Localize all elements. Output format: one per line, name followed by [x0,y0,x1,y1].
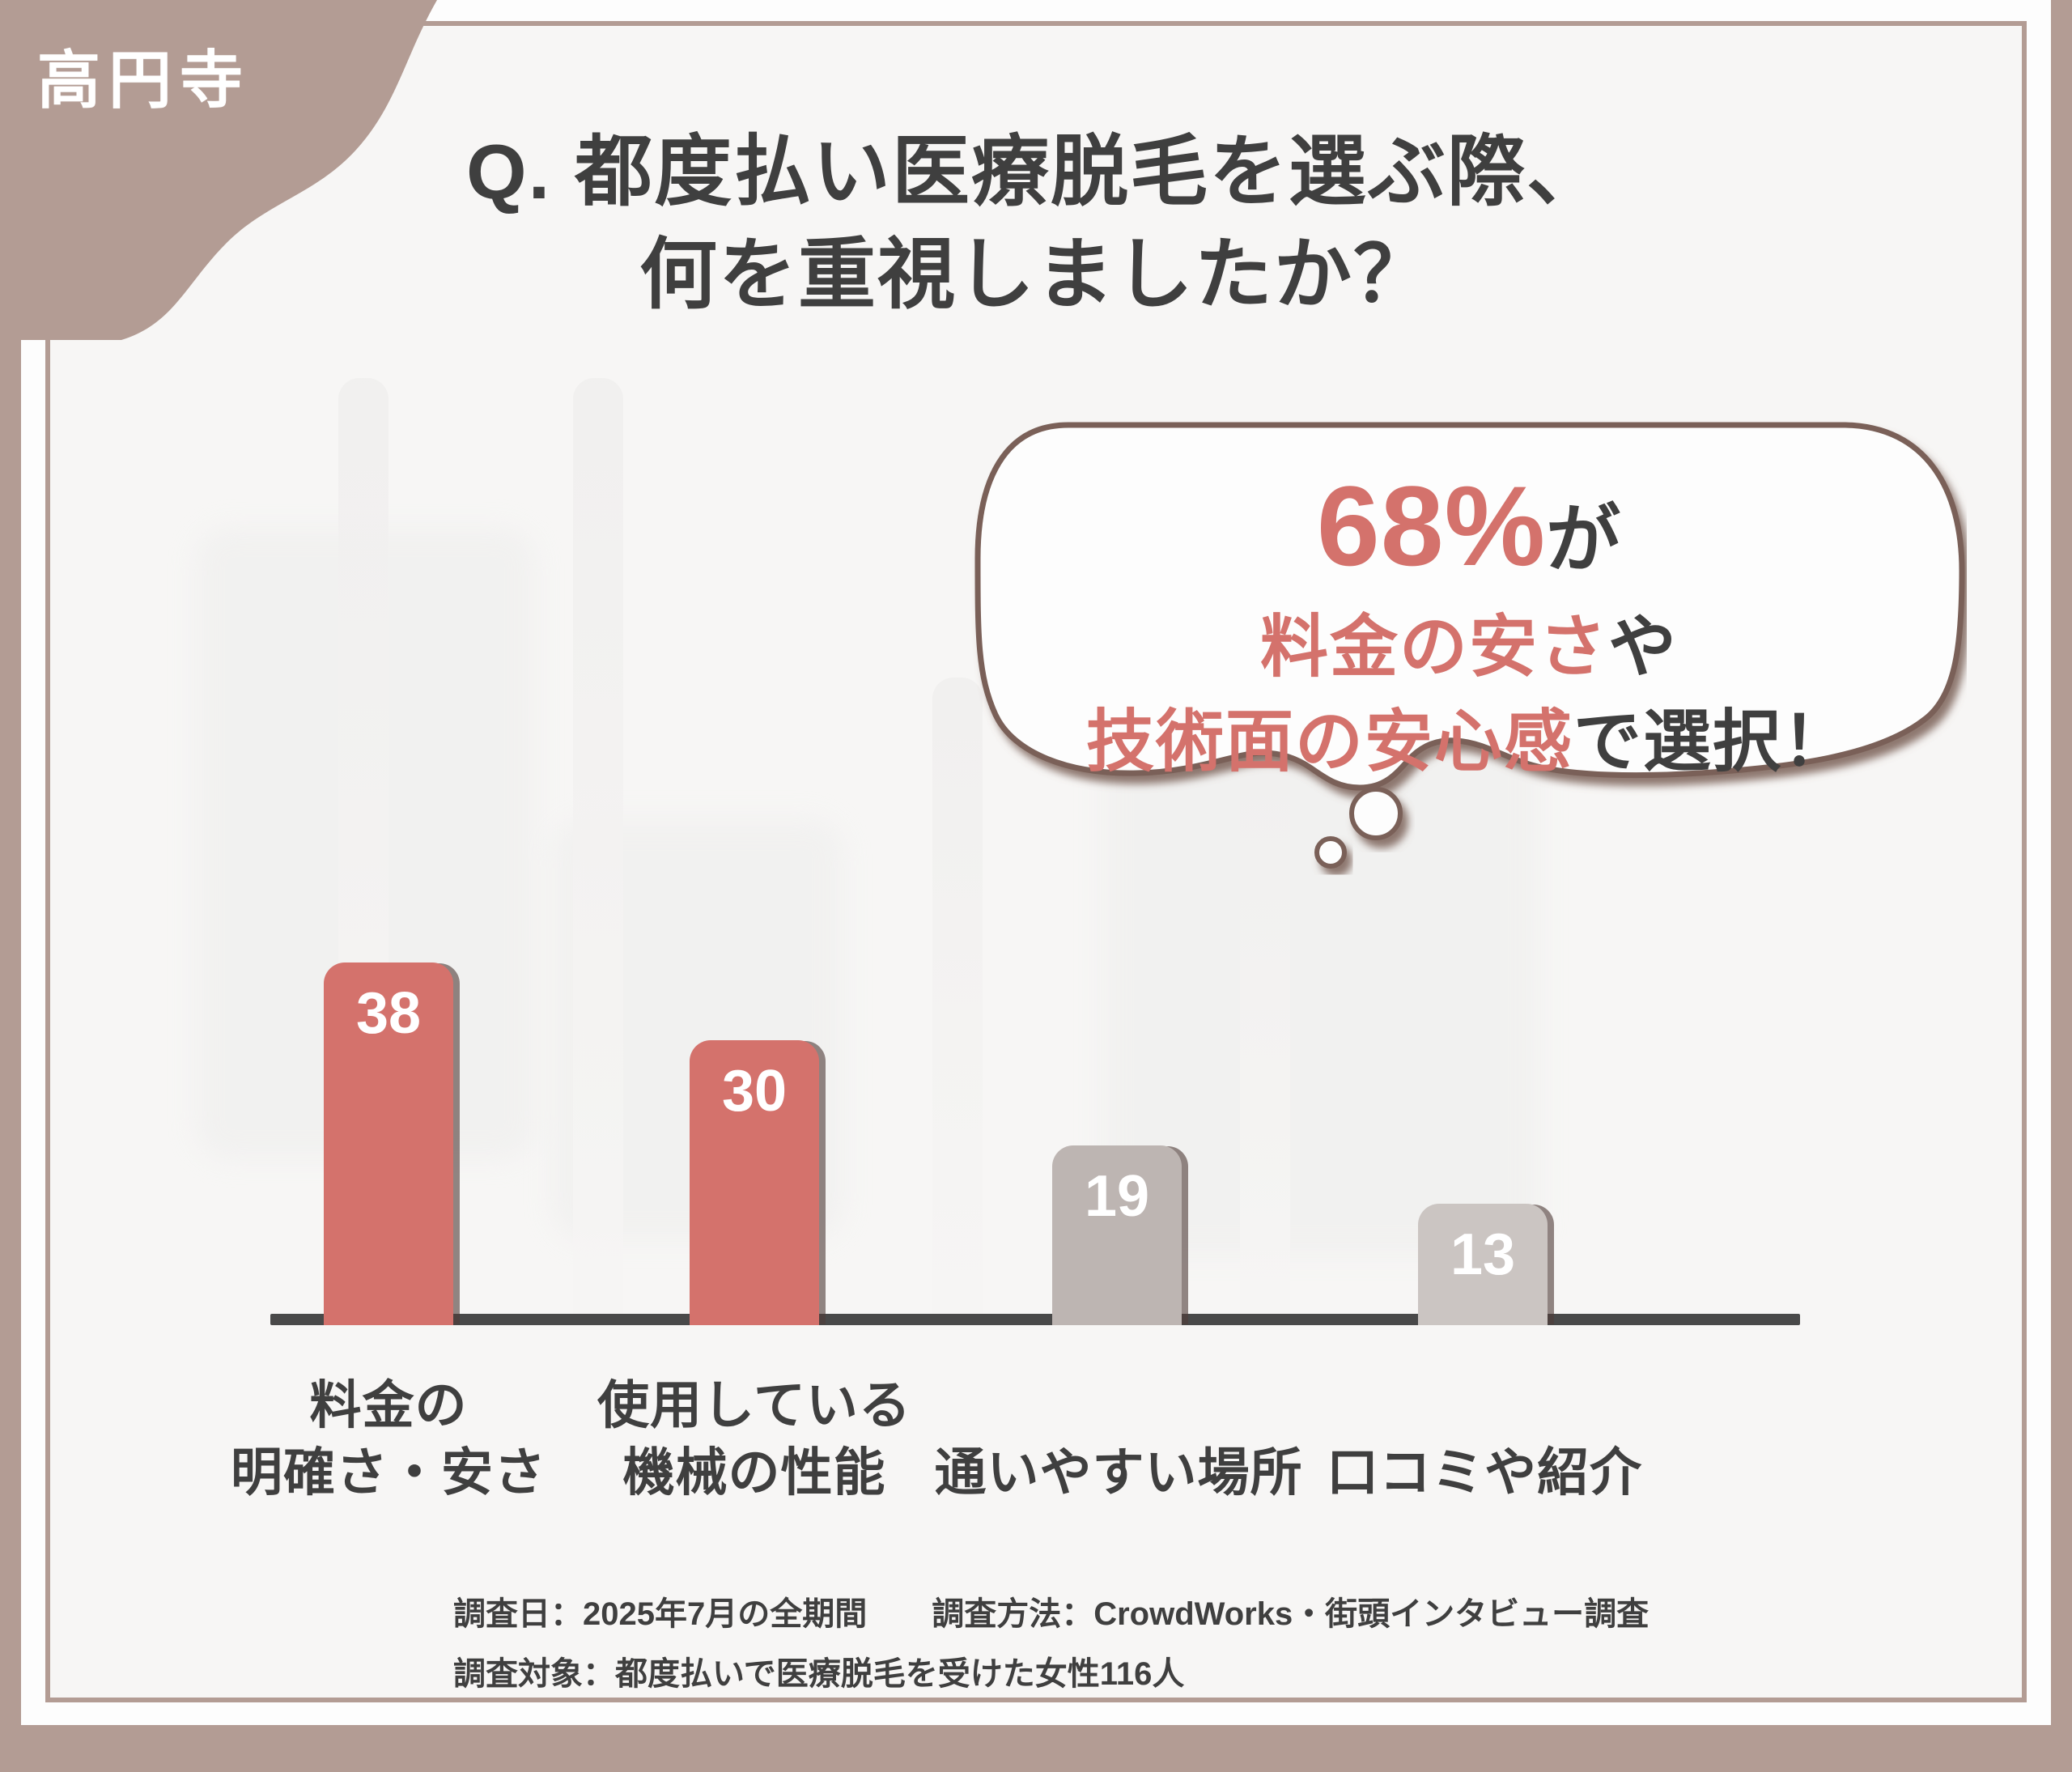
bar-value-3: 13 [1450,1222,1515,1325]
callout-line-3: 技術面の安心感で選択！ [1086,702,1852,782]
location-badge-label: 高円寺 [37,49,251,112]
bar-value-1: 30 [722,1058,787,1325]
bar-1: 30 [690,1040,819,1325]
bar-2: 19 [1052,1145,1182,1325]
bar-0: 38 [324,962,453,1325]
callout-line-2-plain: や [1608,609,1678,685]
bar-value-0: 38 [356,980,421,1325]
callout-line-3-highlight: 技術面の安心感 [1086,703,1573,780]
category-line: 使用している [528,1372,981,1439]
survey-notes: 調査日：2025年7月の全期間 調査方法：CrowdWorks・街頭インタビュー… [453,1584,2022,1704]
title-line-1: Q. 都度払い医療脱毛を選ぶ際、 [466,129,1606,215]
bar-3: 13 [1418,1204,1548,1325]
infographic-canvas: 38 30 19 13 料金の 明確さ・安さ 使用している 機械の性能 通いやす… [0,0,2072,1772]
callout-text: 68%が 料金の安さや 技術面の安心感で選択！ [971,409,1967,789]
callout-bubble: 68%が 料金の安さや 技術面の安心感で選択！ [971,409,1967,878]
callout-percent: 68% [1317,462,1546,589]
callout-line-3-plain: で選択！ [1573,703,1852,780]
axis-baseline [270,1314,1800,1325]
survey-note-line-1: 調査日：2025年7月の全期間 調査方法：CrowdWorks・街頭インタビュー… [453,1584,2022,1644]
ghost-column [573,378,623,1325]
callout-line-2: 料金の安さや [1260,607,1678,687]
category-line: 口コミや紹介 [1258,1439,1711,1506]
callout-percent-suffix: が [1546,499,1621,581]
survey-note-line-2: 調査対象：都度払いで医療脱毛を受けた女性116人 [453,1644,2022,1704]
category-label-3: 口コミや紹介 [1258,1439,1711,1506]
callout-headline: 68%が [1317,459,1621,593]
callout-line-2-highlight: 料金の安さ [1260,609,1608,685]
bar-value-2: 19 [1085,1163,1149,1325]
